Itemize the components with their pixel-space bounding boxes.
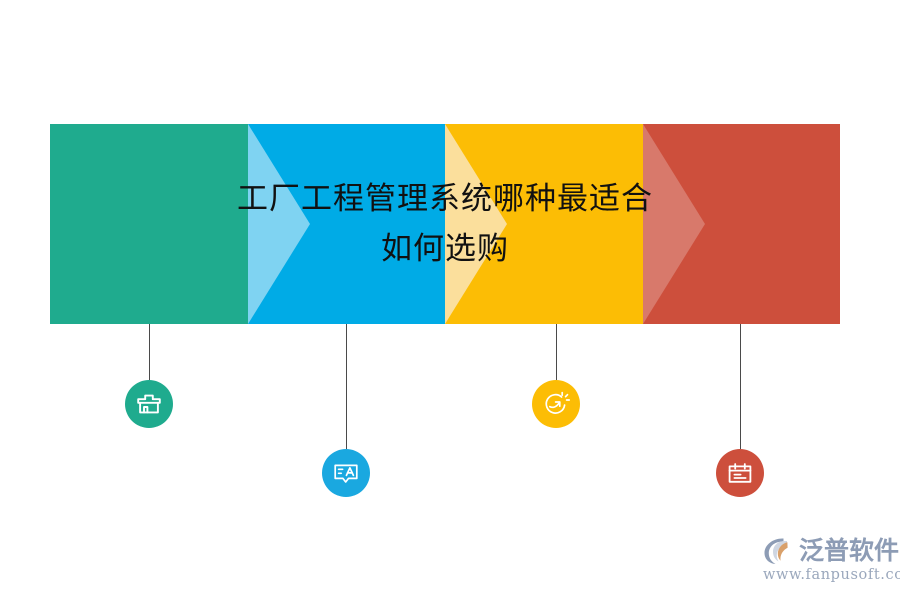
node-translate[interactable]	[322, 449, 370, 497]
banner-segment-4	[643, 124, 841, 324]
connector-line-3	[556, 324, 557, 380]
watermark-brand-row: 泛普软件	[762, 534, 899, 568]
banner-segment-1	[50, 124, 248, 324]
chevron-overlay-2	[248, 124, 310, 324]
fanpu-logo-icon	[762, 535, 796, 567]
shop-icon	[134, 389, 164, 419]
connector-line-4	[740, 324, 741, 449]
node-calendar[interactable]	[716, 449, 764, 497]
growth-icon	[541, 389, 571, 419]
page-canvas: 工厂工程管理系统哪种最适合 如何选购	[0, 0, 900, 600]
connector-line-2	[346, 324, 347, 449]
watermark-logo: 泛普软件 www.fanpusoft.com	[762, 534, 890, 590]
watermark-url-text: www.fanpusoft.com	[763, 567, 900, 583]
translate-icon	[331, 458, 361, 488]
banner-segment-3	[445, 124, 643, 324]
node-growth[interactable]	[532, 380, 580, 428]
node-shop[interactable]	[125, 380, 173, 428]
connector-line-1	[149, 324, 150, 380]
watermark-brand-text: 泛普软件	[799, 536, 899, 566]
calendar-icon	[725, 458, 755, 488]
banner-ribbon	[50, 124, 840, 324]
banner-segment-2	[248, 124, 446, 324]
chevron-overlay-4	[643, 124, 705, 324]
chevron-overlay-3	[445, 124, 507, 324]
chevron-overlay-1	[50, 124, 112, 324]
